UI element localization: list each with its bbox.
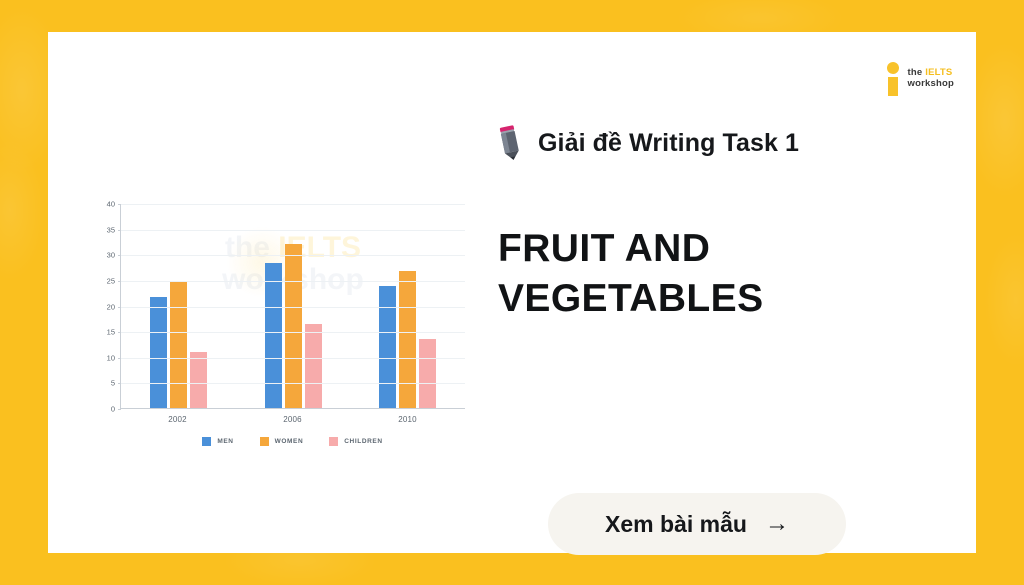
chart-y-tick-label: 35 xyxy=(107,225,115,234)
chart-y-tick-label: 30 xyxy=(107,251,115,260)
chart-y-tick-mark xyxy=(118,383,121,384)
chart-x-label-2006: 2006 xyxy=(235,415,350,424)
legend-label: MEN xyxy=(217,438,233,445)
arrow-right-icon: → xyxy=(765,512,789,536)
page-title: FRUIT ANDVEGETABLES xyxy=(498,224,828,324)
chart-y-tick-mark xyxy=(118,307,121,308)
chart-y-tick-mark xyxy=(118,255,121,256)
chart-bar-children-2002[interactable] xyxy=(190,352,207,408)
legend-item-men[interactable]: MEN xyxy=(202,437,233,446)
logo-the-text: the xyxy=(908,67,926,78)
chart-bar-children-2006[interactable] xyxy=(305,324,322,408)
chart-y-tick-mark xyxy=(118,204,121,205)
chart-plot-area: 0510152025303540 xyxy=(120,204,465,409)
chart-y-tick-label: 5 xyxy=(111,379,115,388)
chart-gridline xyxy=(121,307,465,308)
page-subtitle: Giải đề Writing Task 1 xyxy=(538,129,799,158)
chart-bar-men-2010[interactable] xyxy=(379,286,396,408)
chart-gridline xyxy=(121,204,465,205)
logo-ielts-text: IELTS xyxy=(925,67,952,78)
chart-y-tick-label: 20 xyxy=(107,302,115,311)
chart-gridline xyxy=(121,358,465,359)
chart-y-tick-label: 40 xyxy=(107,200,115,209)
legend-label: CHILDREN xyxy=(344,438,382,445)
chart-bar-men-2006[interactable] xyxy=(265,263,282,408)
chart-gridline xyxy=(121,281,465,282)
chart-gridline xyxy=(121,383,465,384)
chart-bar-women-2002[interactable] xyxy=(170,281,187,408)
right-content-column: Giải đề Writing Task 1 FRUIT ANDVEGETABL… xyxy=(498,124,948,324)
chart-gridline xyxy=(121,230,465,231)
chart-y-tick-label: 10 xyxy=(107,353,115,362)
chart-gridline xyxy=(121,255,465,256)
legend-swatch-icon xyxy=(202,437,211,446)
view-sample-button-label: Xem bài mẫu xyxy=(605,511,747,538)
chart-y-tick-mark xyxy=(118,281,121,282)
subtitle-row: Giải đề Writing Task 1 xyxy=(498,124,948,162)
legend-item-women[interactable]: WOMEN xyxy=(260,437,304,446)
chart-bar-children-2010[interactable] xyxy=(419,339,436,408)
chart-y-tick-label: 25 xyxy=(107,276,115,285)
logo-workshop-text: workshop xyxy=(908,79,954,90)
chart-y-tick-mark xyxy=(118,230,121,231)
chart-x-label-2010: 2010 xyxy=(350,415,465,424)
chart-x-axis-labels: 200220062010 xyxy=(120,415,465,424)
chart-bar-men-2002[interactable] xyxy=(150,297,167,408)
brand-logo[interactable]: the IELTS workshop xyxy=(884,62,954,96)
chart-y-tick-mark xyxy=(118,332,121,333)
content-card: the IELTS workshop the IELTS workshop 05… xyxy=(48,32,976,553)
chart-x-label-2002: 2002 xyxy=(120,415,235,424)
legend-swatch-icon xyxy=(329,437,338,446)
legend-label: WOMEN xyxy=(275,438,304,445)
legend-swatch-icon xyxy=(260,437,269,446)
bar-chart: the IELTS workshop 0510152025303540 2002… xyxy=(66,194,486,459)
logo-wordmark: the IELTS workshop xyxy=(908,68,954,89)
logo-i-mark-icon xyxy=(884,62,902,96)
page-title-line-one: FRUIT AND xyxy=(498,227,710,270)
chart-y-tick-mark xyxy=(118,409,121,410)
chart-gridline xyxy=(121,332,465,333)
legend-item-children[interactable]: CHILDREN xyxy=(329,437,382,446)
chart-bar-women-2010[interactable] xyxy=(399,271,416,408)
chart-y-tick-label: 15 xyxy=(107,328,115,337)
view-sample-button[interactable]: Xem bài mẫu → xyxy=(548,493,846,555)
chart-legend: MENWOMENCHILDREN xyxy=(120,437,465,446)
chart-y-tick-label: 0 xyxy=(111,405,115,414)
chart-y-tick-mark xyxy=(118,358,121,359)
page-title-line-two: VEGETABLES xyxy=(498,277,763,320)
pencil-icon xyxy=(498,124,524,162)
